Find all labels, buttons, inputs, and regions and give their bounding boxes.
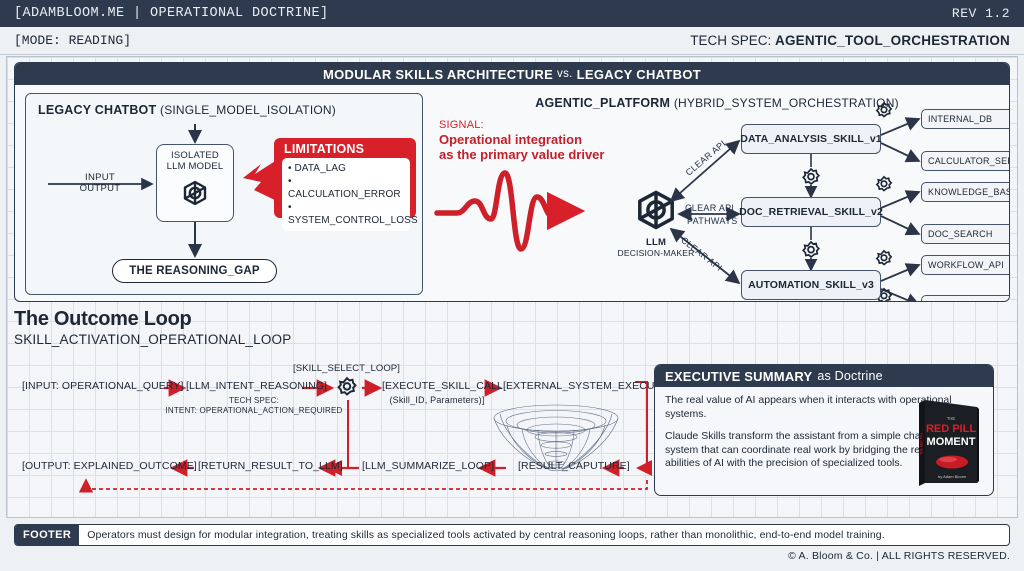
outcome-loop-subtitle: SKILL_ACTIVATION_OPERATIONAL_LOOP: [14, 332, 1010, 347]
comparison-title-right: LEGACY CHATBOT: [577, 67, 701, 82]
legacy-title: LEGACY CHATBOT: [38, 103, 156, 117]
comparison-panel-title: MODULAR SKILLS ARCHITECTURE vs. LEGACY C…: [15, 63, 1009, 85]
tool-box-calculator-service[interactable]: CALCULATOR_SERVICE: [921, 151, 1010, 171]
legacy-subtitle: (SINGLE_MODEL_ISOLATION): [160, 103, 336, 117]
isolated-llm-model-box: ISOLATED LLM MODEL: [156, 144, 234, 222]
tool-box-workflow-api[interactable]: WORKFLOW_API: [921, 255, 1010, 275]
limitations-header: LIMITATIONS: [274, 141, 416, 158]
executive-summary-panel: EXECUTIVE SUMMARY as Doctrine The real v…: [654, 364, 994, 496]
limitation-item: • DATA_LAG: [288, 162, 404, 175]
skill-box-automation[interactable]: AUTOMATION_SKILL_v3: [741, 270, 881, 300]
title-bar: [ADAMBLOOM.ME | OPERATIONAL DOCTRINE] RE…: [0, 0, 1024, 27]
loop-node-input: [INPUT: OPERATIONAL_QUERY]: [22, 380, 184, 392]
signal-text: Operational integration as the primary v…: [439, 132, 619, 162]
outcome-loop-title: The Outcome Loop: [14, 308, 1010, 331]
book-author: by Adam Bloom: [938, 474, 967, 479]
signal-callout: SIGNAL: Operational integration as the p…: [439, 119, 619, 162]
api-label-top: CLEAR API: [684, 138, 728, 177]
input-label: INPUT: [44, 172, 156, 183]
reasoning-gap-node: THE REASONING_GAP: [112, 259, 277, 283]
api-label-mid-1: CLEAR API: [685, 203, 734, 213]
revision-label: REV 1.2: [952, 6, 1010, 21]
copyright-notice: © A. Bloom & Co. | ALL RIGHTS RESERVED.: [788, 550, 1010, 562]
executive-summary-header: EXECUTIVE SUMMARY as Doctrine: [655, 365, 993, 387]
legacy-section-title: LEGACY CHATBOT (SINGLE_MODEL_ISOLATION): [38, 103, 336, 117]
signal-wave-icon: [435, 169, 625, 255]
tool-box-knowledge-base[interactable]: KNOWLEDGE_BASE: [921, 182, 1010, 202]
executive-summary-header-light: as Doctrine: [817, 369, 882, 383]
isolated-llm-label: ISOLATED LLM MODEL: [157, 145, 233, 172]
loop-node-intent: [LLM_INTENT_REASONING]: [186, 380, 327, 392]
comparison-title-left: MODULAR SKILLS ARCHITECTURE: [323, 67, 553, 82]
loop-node-execute: [EXECUTE_SKILL_CALL: [382, 380, 503, 392]
book-cover-image: THE RED PILL MOMENT by Adam Bloom THE RE…: [911, 395, 983, 489]
signal-label: SIGNAL:: [439, 119, 619, 131]
comparison-title-vs: vs.: [557, 68, 573, 80]
output-label: OUTPUT: [44, 183, 156, 194]
input-output-label: INPUT OUTPUT: [44, 172, 156, 194]
limitations-callout: LIMITATIONS • DATA_LAG • CALCULATION_ERR…: [274, 138, 416, 218]
limitation-item: • CALCULATION_ERROR: [288, 175, 404, 201]
limitation-item: • SYSTEM_CONTROL_LOSS: [288, 201, 404, 227]
gear-icon: [873, 175, 895, 197]
isolated-llm-line1: ISOLATED: [157, 150, 233, 161]
tool-box-doc-search[interactable]: DOC_SEARCH: [921, 224, 1010, 244]
signal-text-line1: Operational integration: [439, 132, 619, 147]
tech-spec-value: AGENTIC_TOOL_ORCHESTRATION: [775, 33, 1010, 48]
executive-summary-header-bold: EXECUTIVE SUMMARY: [665, 369, 812, 384]
book-title-1: RED PILL: [926, 423, 976, 435]
agentic-title: AGENTIC_PLATFORM: [535, 96, 670, 110]
loop-node-summarize: [LLM_SUMMARIZE_LOOP]: [362, 460, 494, 472]
tech-spec-line: TECH SPEC: AGENTIC_TOOL_ORCHESTRATION: [690, 33, 1010, 48]
footer-bar: FOOTER Operators must design for modular…: [14, 524, 1010, 546]
page-root: [ADAMBLOOM.ME | OPERATIONAL DOCTRINE] RE…: [0, 0, 1024, 571]
book-spine-text: THE RED PILL: [920, 432, 924, 455]
loop-intent-subnote: TECH SPEC: INTENT: OPERATIONAL_ACTION_RE…: [154, 396, 354, 416]
agentic-subtitle: (HYBRID_SYSTEM_ORCHESTRATION): [674, 96, 899, 110]
book-top-word: THE: [947, 416, 956, 421]
book-title-2: MOMENT: [927, 436, 976, 448]
openai-logo-icon: [175, 176, 215, 216]
mode-bar: [MODE: READING] TECH SPEC: AGENTIC_TOOL_…: [0, 27, 1024, 55]
limitations-list: • DATA_LAG • CALCULATION_ERROR • SYSTEM_…: [282, 158, 410, 231]
isolated-llm-line2: LLM MODEL: [157, 161, 233, 172]
agentic-section-title: AGENTIC_PLATFORM (HYBRID_SYSTEM_ORCHESTR…: [535, 96, 899, 110]
gear-icon: [873, 249, 895, 271]
tech-spec-label: TECH SPEC:: [690, 33, 771, 48]
loop-select-label: [SKILL_SELECT_LOOP]: [293, 363, 400, 374]
footer-tag: FOOTER: [15, 525, 79, 545]
footer-text: Operators must design for modular integr…: [79, 529, 885, 541]
gear-icon: [799, 240, 823, 264]
comparison-panel: MODULAR SKILLS ARCHITECTURE vs. LEGACY C…: [14, 62, 1010, 302]
signal-text-line2: as the primary value driver: [439, 147, 619, 162]
api-label-mid-2: PATHWAYS: [687, 216, 738, 226]
loop-node-return: [RETURN_RESULT_TO_LLM]: [198, 460, 343, 472]
gear-icon: [799, 167, 823, 191]
loop-intent-sub1: TECH SPEC:: [154, 396, 354, 406]
skill-box-doc-retrieval[interactable]: DOC_RETRIEVAL_SKILL_v2: [741, 197, 881, 227]
legacy-chatbot-section: LEGACY CHATBOT (SINGLE_MODEL_ISOLATION): [25, 93, 423, 295]
central-llm-name: LLM: [646, 237, 666, 248]
skill-box-data-analysis[interactable]: DATA_ANALYSIS_SKILL_v1: [741, 124, 881, 154]
loop-node-result-capture: [RESULT_CAPUTURE]: [518, 460, 630, 472]
central-llm-logo-icon: [629, 187, 683, 241]
tool-box-internal-db[interactable]: INTERNAL_DB: [921, 109, 1010, 129]
site-breadcrumb: [ADAMBLOOM.ME | OPERATIONAL DOCTRINE]: [14, 6, 329, 21]
agentic-platform-section: AGENTIC_PLATFORM (HYBRID_SYSTEM_ORCHESTR…: [433, 91, 1001, 295]
loop-node-output: [OUTPUT: EXPLAINED_OUTCOME]: [22, 460, 197, 472]
loop-execute-subnote: (Skill_ID, Parameters)]: [382, 395, 492, 405]
loop-intent-sub2: INTENT: OPERATIONAL_ACTION_REQUIRED: [154, 406, 354, 416]
mode-indicator: [MODE: READING]: [14, 33, 131, 48]
tool-box-messaging-server[interactable]: MESSAGING_SERVER: [921, 295, 1010, 302]
